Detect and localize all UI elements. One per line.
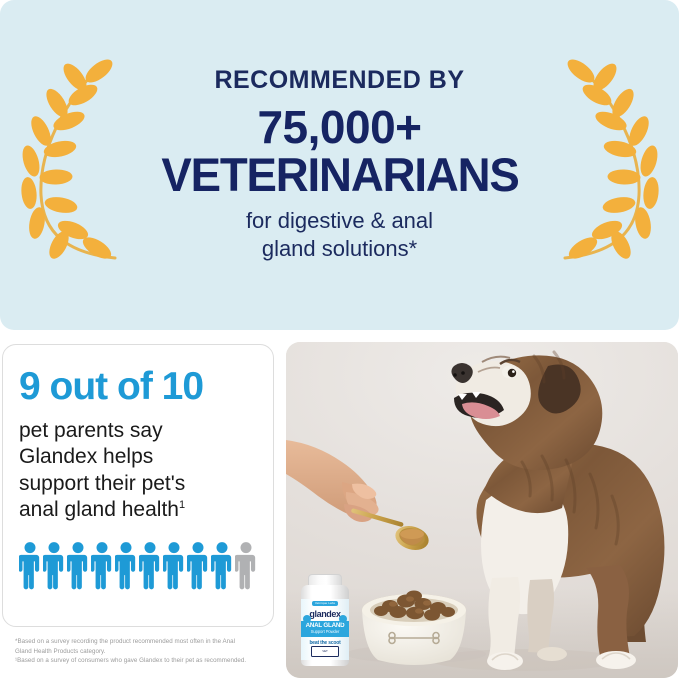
- dog-bowl: [362, 591, 466, 666]
- person-figure-icon: [43, 539, 65, 591]
- person-figure-icon: [187, 539, 209, 591]
- bottle-brand: glandex: [309, 610, 340, 619]
- glandex-bottle: Vetnique Labs glandex ANAL GLAND Support…: [301, 574, 349, 666]
- banner-text-group: RECOMMENDED BY 75,000+ VETERINARIANS for…: [131, 67, 549, 264]
- laurel-wreath-left-icon: [11, 55, 131, 275]
- person-figure-icon: [19, 539, 41, 591]
- stat-body-line1: pet parents say: [19, 419, 163, 442]
- banner-count: 75,000+: [135, 104, 545, 151]
- stat-body-line4: anal gland health: [19, 498, 179, 521]
- person-figure-icon: [163, 539, 185, 591]
- banner-subtitle-line2: gland solutions*: [135, 235, 545, 263]
- person-figure-icon: [139, 539, 161, 591]
- bottle-body: Vetnique Labs glandex ANAL GLAND Support…: [301, 585, 349, 666]
- dog-body: [451, 352, 664, 670]
- banner-eyebrow: RECOMMENDED BY: [135, 67, 545, 95]
- banner-subtitle-line1: for digestive & anal: [135, 207, 545, 235]
- bottle-product-band: ANAL GLAND Support Powder: [301, 621, 349, 637]
- bottle-brand-top: Vetnique Labs: [312, 601, 338, 606]
- bottle-badge-right: [339, 615, 347, 623]
- laurel-wreath-right-icon: [549, 55, 669, 275]
- footnotes: *Based on a survey recording the product…: [15, 637, 275, 666]
- stat-body-line2: Glandex helps: [19, 445, 153, 468]
- footnote-line-1: *Based on a survey recording the product…: [15, 637, 275, 647]
- stat-card: 9 out of 10 pet parents say Glandex help…: [2, 344, 274, 627]
- bottom-section: 9 out of 10 pet parents say Glandex help…: [0, 341, 679, 678]
- bottle-badge-left: [303, 615, 311, 623]
- stat-body-line3: support their pet's: [19, 472, 185, 495]
- footnote-line-3: ¹Based on a survey of consumers who gave…: [15, 656, 275, 666]
- bottle-seal: VET RECOMMENDED: [311, 646, 339, 657]
- people-pictogram: [19, 539, 257, 591]
- bottle-product-line-2: Support Powder: [301, 629, 349, 635]
- person-figure-icon: [91, 539, 113, 591]
- recommended-by-banner: RECOMMENDED BY 75,000+ VETERINARIANS for…: [0, 0, 679, 330]
- person-figure-icon-muted: [235, 539, 257, 591]
- footnote-line-2: Gland Health Products category.: [15, 647, 275, 657]
- stat-body-footnote-marker: 1: [179, 499, 185, 511]
- spoon-icon: [351, 508, 432, 554]
- person-figure-icon: [115, 539, 137, 591]
- stat-headline: 9 out of 10: [19, 367, 257, 406]
- product-lifestyle-photo: Vetnique Labs glandex ANAL GLAND Support…: [286, 342, 678, 678]
- person-figure-icon: [67, 539, 89, 591]
- bottle-label: Vetnique Labs glandex ANAL GLAND Support…: [301, 599, 349, 660]
- banner-audience: VETERINARIANS: [141, 151, 539, 199]
- stat-body-text: pet parents say Glandex helps support th…: [19, 418, 257, 523]
- person-figure-icon: [211, 539, 233, 591]
- hand-icon: [286, 440, 379, 522]
